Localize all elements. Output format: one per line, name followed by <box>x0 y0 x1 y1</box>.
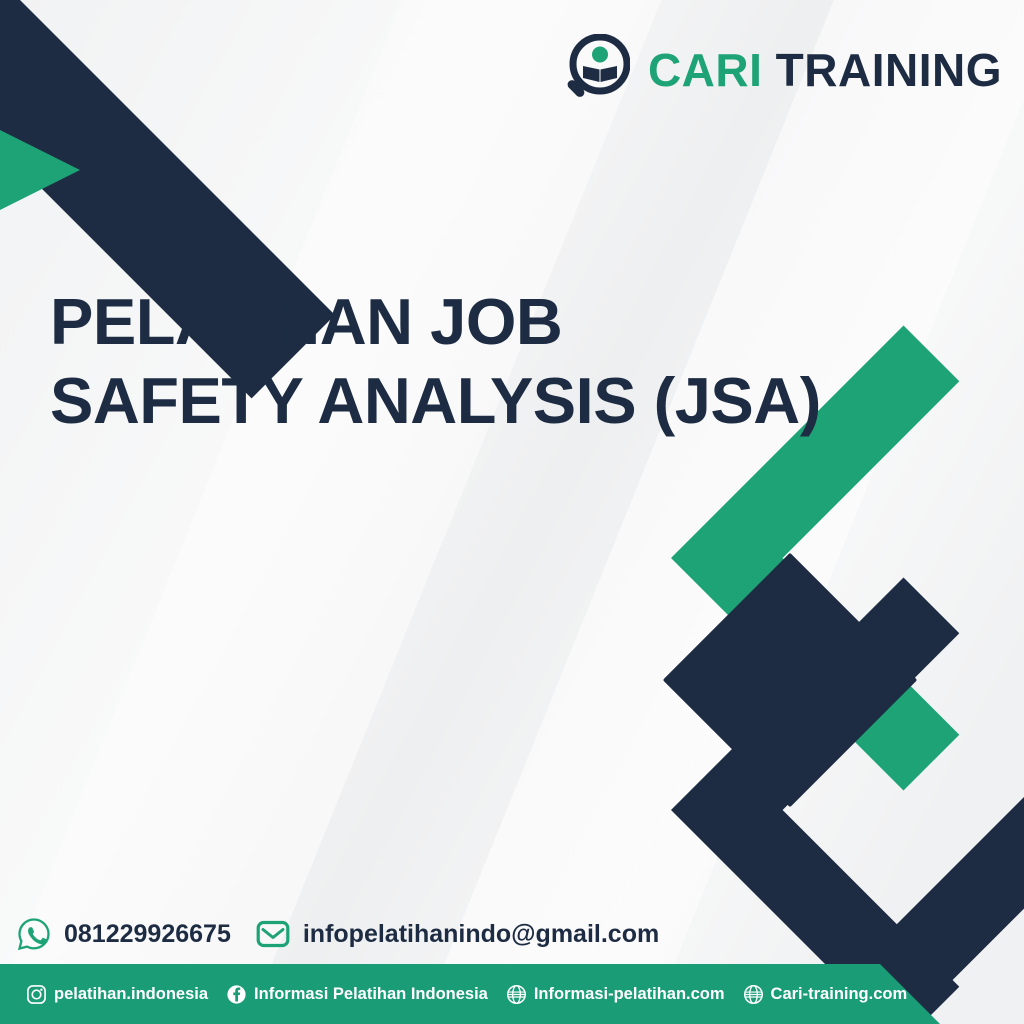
poster-canvas: CARI TRAINING PELATIHAN JOB SAFETY ANALY… <box>0 0 1024 1024</box>
contact-bar: 081229926675 infopelatihanindo@gmail.com <box>16 916 659 952</box>
footer-label-facebook: Informasi Pelatihan Indonesia <box>254 985 488 1004</box>
globe-icon <box>743 984 764 1005</box>
brand-name: CARI TRAINING <box>648 47 1002 93</box>
page-title: PELATIHAN JOB SAFETY ANALYSIS (JSA) <box>50 282 830 441</box>
contact-item-email[interactable]: infopelatihanindo@gmail.com <box>255 916 659 952</box>
whatsapp-icon <box>16 916 52 952</box>
brand-logo: CARI TRAINING <box>558 34 1002 106</box>
instagram-icon <box>26 984 47 1005</box>
globe-icon <box>506 984 527 1005</box>
brand-name-cari: CARI <box>648 44 762 96</box>
contact-item-whatsapp[interactable]: 081229926675 <box>16 916 231 952</box>
brand-name-training: TRAINING <box>776 44 1002 96</box>
footer-item-facebook[interactable]: Informasi Pelatihan Indonesia <box>226 984 488 1005</box>
social-footer: pelatihan.indonesia Informasi Pelatihan … <box>0 964 1024 1024</box>
footer-item-instagram[interactable]: pelatihan.indonesia <box>26 984 208 1005</box>
email-address: infopelatihanindo@gmail.com <box>303 920 659 949</box>
magnifier-book-icon <box>558 34 630 106</box>
email-icon <box>255 916 291 952</box>
footer-label-instagram: pelatihan.indonesia <box>54 985 208 1004</box>
facebook-icon <box>226 984 247 1005</box>
footer-item-website-2[interactable]: Cari-training.com <box>743 984 908 1005</box>
footer-label-website-2: Cari-training.com <box>771 985 908 1004</box>
footer-label-website-1: Informasi-pelatihan.com <box>534 985 725 1004</box>
whatsapp-number: 081229926675 <box>64 920 231 949</box>
footer-item-website-1[interactable]: Informasi-pelatihan.com <box>506 984 725 1005</box>
